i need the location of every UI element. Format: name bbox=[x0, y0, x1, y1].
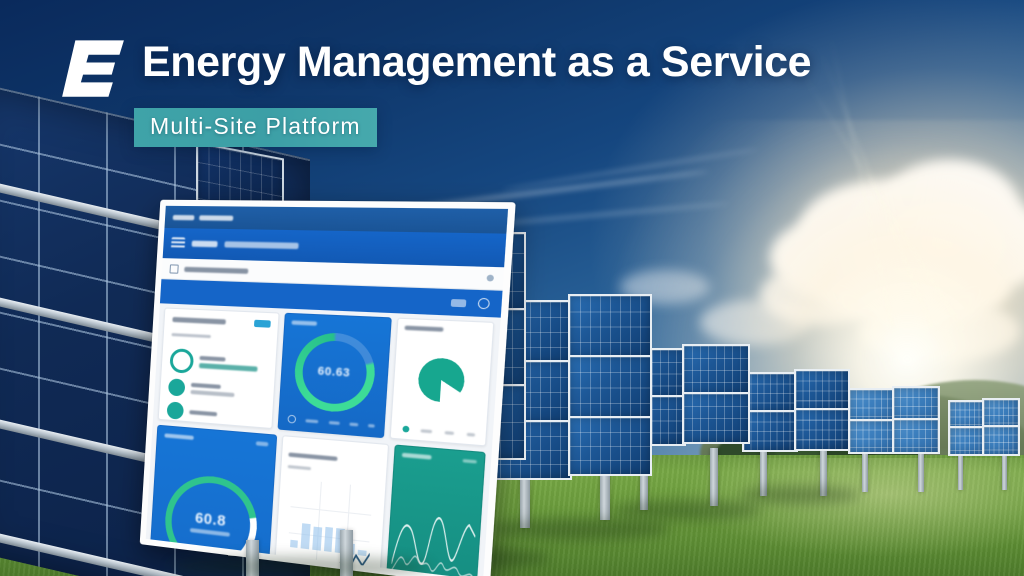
gauge-value: 60.63 bbox=[317, 365, 350, 380]
gauge-footer-item bbox=[349, 422, 358, 426]
status-card-action[interactable] bbox=[254, 320, 271, 328]
appbar-title bbox=[192, 241, 218, 248]
display-bezel: 60.63 bbox=[140, 200, 516, 576]
topbar-item[interactable] bbox=[199, 215, 233, 221]
wave-card[interactable] bbox=[385, 444, 486, 576]
gauge-footer-item bbox=[306, 419, 319, 423]
tab-primary[interactable] bbox=[451, 298, 467, 306]
status-row-value bbox=[190, 390, 234, 397]
settings-icon[interactable] bbox=[486, 275, 494, 282]
dashboard-display-board: 60.63 bbox=[140, 200, 516, 576]
donut-value: 60.8 bbox=[195, 509, 227, 530]
trend-card-title bbox=[288, 452, 337, 461]
trend-card[interactable] bbox=[273, 435, 389, 576]
app-logo-icon bbox=[171, 237, 185, 249]
ring-footer-item bbox=[421, 429, 433, 433]
page-title: Energy Management as a Service bbox=[142, 38, 811, 87]
gauge-card[interactable]: 60.63 bbox=[277, 313, 391, 438]
menu-icon[interactable] bbox=[169, 264, 178, 273]
gauge-readout: 60.63 bbox=[286, 325, 384, 422]
status-card-subtitle bbox=[171, 333, 210, 338]
status-ring-icon bbox=[169, 348, 194, 374]
appbar-subtitle bbox=[224, 241, 298, 249]
status-dot-icon bbox=[167, 401, 185, 419]
dashboard-body: 60.63 bbox=[146, 302, 501, 576]
dashboard-screen[interactable]: 60.63 bbox=[146, 206, 508, 576]
status-card[interactable] bbox=[158, 308, 280, 430]
breadcrumb bbox=[184, 266, 248, 273]
ring-footer-item bbox=[445, 430, 454, 434]
status-row[interactable] bbox=[167, 401, 266, 426]
topbar-label bbox=[173, 214, 195, 219]
ring-footer-icon[interactable] bbox=[402, 426, 409, 433]
gauge-footer-item bbox=[328, 420, 339, 424]
logo-e-icon bbox=[56, 36, 130, 100]
status-dot-icon bbox=[168, 378, 186, 396]
wave-card-badge bbox=[463, 458, 477, 463]
status-row[interactable] bbox=[169, 348, 268, 379]
wave-card-title bbox=[402, 453, 432, 460]
platform-badge: Multi-Site Platform bbox=[134, 108, 377, 147]
ring-footer-item bbox=[466, 432, 474, 436]
status-row-label bbox=[191, 383, 221, 389]
hero-banner: 60.63 bbox=[0, 0, 1024, 576]
status-row-label bbox=[189, 410, 217, 416]
gauge-footer-item bbox=[368, 423, 375, 427]
brand-logo bbox=[56, 36, 130, 100]
status-card-title bbox=[172, 317, 226, 325]
display-shadow bbox=[170, 556, 430, 576]
refresh-icon[interactable] bbox=[478, 298, 491, 310]
ring-card[interactable] bbox=[390, 318, 495, 447]
status-row-value bbox=[199, 363, 258, 372]
ring-chart bbox=[417, 357, 466, 404]
status-row[interactable] bbox=[168, 378, 267, 402]
gauge-footer-icon[interactable] bbox=[287, 415, 296, 424]
status-row-label bbox=[199, 356, 225, 362]
